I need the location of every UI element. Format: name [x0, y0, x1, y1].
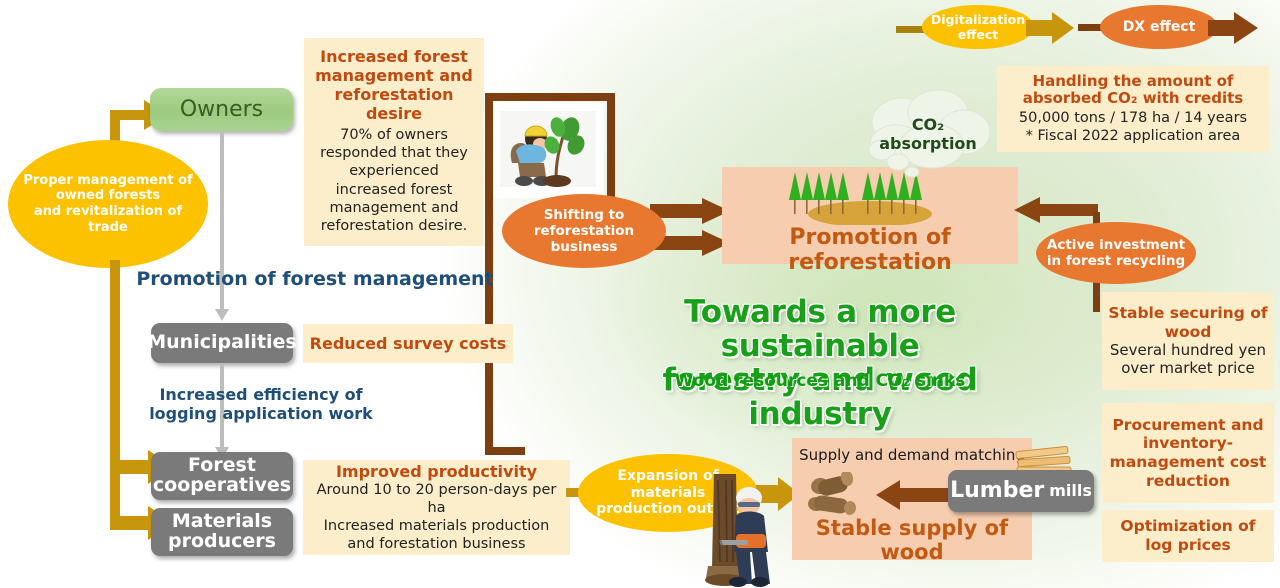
stable-securing-heading: Stable securing of wood [1108, 304, 1268, 341]
materials-producers-line1: Materials [172, 512, 272, 532]
proper-management-line3: and revitalization of trade [14, 204, 202, 235]
supply-and-demand-matching-label: Supply and demand matching [792, 446, 1032, 464]
digitalization-arrow-icon [1024, 8, 1084, 48]
stable-securing-body: Several hundred yen over market price [1108, 341, 1268, 378]
dx-effect-oval[interactable]: DX effect [1100, 5, 1218, 49]
chainsaw-worker-illustration [700, 466, 780, 588]
lumber-mills-strong: Lumber [950, 479, 1044, 502]
proper-management-oval[interactable]: Proper management of owned forests and r… [8, 140, 208, 268]
shifting-line1: Shifting to [502, 207, 666, 223]
active-investment-line1: Active investment [1047, 237, 1185, 253]
owners-label: Owners [180, 97, 263, 122]
co2-absorption-cloud: CO₂ absorption [860, 88, 996, 188]
shifting-line2: reforestation business [502, 223, 666, 255]
materials-producers-line2: producers [168, 532, 276, 552]
digitalization-effect-line2: effect [931, 27, 1025, 42]
lumber-mills-box[interactable]: Lumber mills [948, 470, 1094, 512]
digitalization-effect-line1: Digitalization [931, 12, 1025, 27]
forest-cooperatives-box[interactable]: Forest cooperatives [151, 452, 293, 500]
active-investment-oval[interactable]: Active investment in forest recycling [1036, 222, 1196, 284]
materials-producers-box[interactable]: Materials producers [151, 508, 293, 556]
digitalization-effect-oval[interactable]: Digitalization effect [922, 5, 1034, 49]
credits-body-line2: * Fiscal 2022 application area [1026, 127, 1241, 145]
logs-illustration [804, 472, 866, 518]
tree-planting-worker-illustration [494, 103, 604, 198]
procurement-box: Procurement and inventory-management cos… [1102, 403, 1274, 503]
forest-cooperatives-line2: cooperatives [153, 476, 291, 496]
main-title-line1: Towards a more sustainable [600, 295, 1040, 363]
proper-management-line2: owned forests [14, 188, 202, 204]
main-title: Towards a more sustainable forestry and … [600, 295, 1040, 431]
reduced-survey-box: Reduced survey costs [303, 324, 513, 363]
owners-box[interactable]: Owners [150, 88, 293, 131]
credits-heading: Handling the amount of absorbed CO₂ with… [1005, 73, 1261, 108]
dx-effect-arrow-icon [1206, 8, 1268, 48]
stable-securing-box: Stable securing of wood Several hundred … [1102, 292, 1274, 390]
increased-desire-body: 70% of owners responded that they experi… [312, 126, 476, 236]
credits-box: Handling the amount of absorbed CO₂ with… [997, 66, 1269, 152]
reduced-survey-heading: Reduced survey costs [310, 334, 507, 353]
promotion-of-reforestation-label: Promotion of reforestation [722, 225, 1018, 275]
procurement-heading: Procurement and inventory-management cos… [1108, 416, 1268, 490]
lumber-mills-weak: mills [1049, 483, 1092, 500]
co2-cloud-line2: absorption [860, 135, 996, 154]
main-subtitle: Wood resources and CO₂ sinks [600, 371, 1040, 391]
brown-frame-top [485, 93, 615, 101]
forest-cooperatives-line1: Forest [188, 456, 256, 476]
improved-productivity-line2: Increased materials production [324, 517, 550, 535]
active-investment-line2: in forest recycling [1047, 253, 1185, 269]
optimization-box: Optimization of log prices [1102, 510, 1274, 562]
active-investment-arrow-icon [1010, 195, 1100, 225]
increased-desire-heading: Increased forest management and reforest… [312, 48, 476, 124]
improved-productivity-box: Improved productivity Around 10 to 20 pe… [303, 460, 570, 555]
improved-productivity-heading: Improved productivity [336, 462, 537, 481]
stable-supply-of-wood-label: Stable supply of wood [792, 516, 1032, 564]
improved-productivity-line3: and forestation business [347, 535, 525, 553]
credits-body-line1: 50,000 tons / 178 ha / 14 years [1019, 109, 1247, 127]
improved-productivity-line1: Around 10 to 20 person-days per ha [309, 481, 564, 517]
co2-cloud-line1: CO₂ [860, 116, 996, 135]
proper-management-line1: Proper management of [14, 173, 202, 189]
brown-frame-bottom-stub [485, 447, 525, 455]
owners-to-municipalities-arrow-icon [213, 131, 231, 321]
diagram-canvas: Digitalization effect DX effect Handling… [0, 0, 1280, 588]
increased-desire-box: Increased forest management and reforest… [304, 38, 484, 246]
dx-effect-label: DX effect [1123, 19, 1196, 36]
shifting-to-reforestation-oval[interactable]: Shifting to reforestation business [502, 194, 666, 268]
optimization-heading: Optimization of log prices [1108, 517, 1268, 554]
